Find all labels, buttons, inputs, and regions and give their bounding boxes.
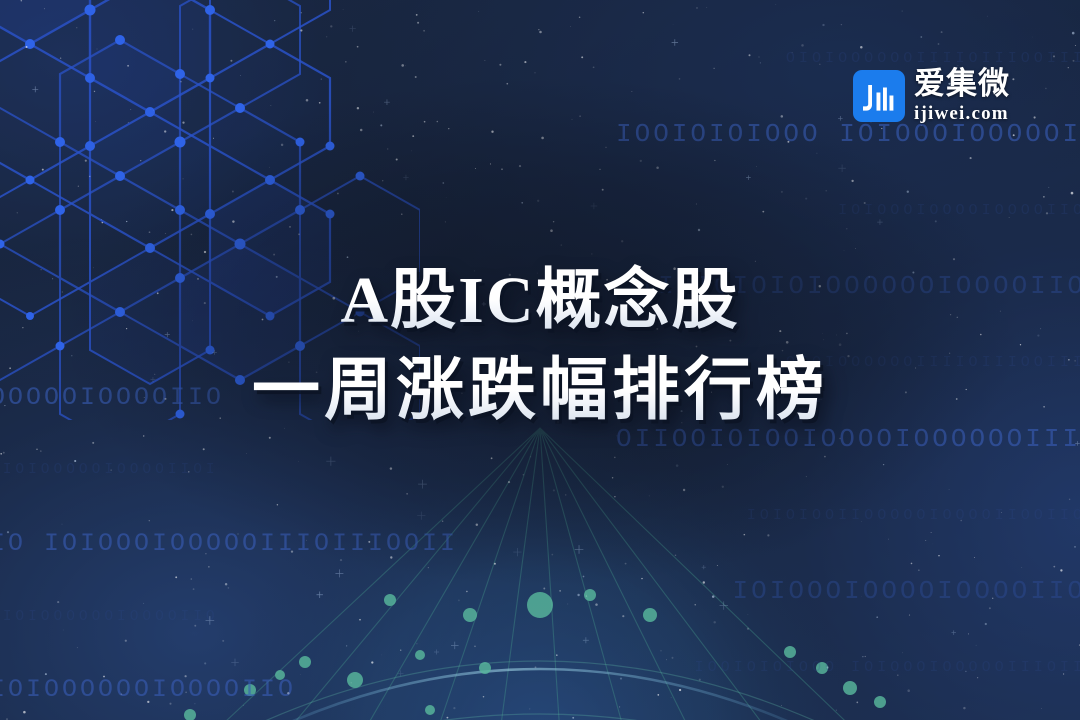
title-line-1: A股IC概念股: [0, 257, 1080, 345]
binary-row: IOIOOOOOOIOOOOIIO: [0, 677, 420, 703]
binary-row: OIOIOOOOOIOOOOIIOI: [0, 463, 420, 478]
binary-row: OIOIOOOOOOIOOOOIIO: [0, 610, 420, 625]
poster-canvas: OIOIOOOOOOIIIIOIIIOOIII IOOIOIOIOOO IOIO…: [0, 0, 1080, 720]
logo-text-group: 爱集微 ijiwei.com: [914, 68, 1010, 123]
ijiwei-logo: 爱集微 ijiwei.com: [853, 68, 1010, 123]
binary-row: IOOIOIOIOOO IOIOOOIOOOOOIIIOII: [616, 121, 1080, 148]
binary-row: IO IOIOOOIOOOOOIIIOIIIOOII: [0, 531, 420, 557]
binary-row: OIOIOOOOOOIIIIOIIIOOIII: [616, 51, 1080, 67]
logo-brand-cn: 爱集微: [914, 68, 1010, 99]
title-line-2: 一周涨跌幅排行榜: [0, 345, 1080, 436]
poster-title: A股IC概念股 一周涨跌幅排行榜: [0, 257, 1080, 437]
binary-row: IOIOOOIOOOOIOOOOIIO: [616, 578, 1080, 605]
binary-row: IOIOIOOIIOOOOOIOOOOIIOOIIO: [616, 508, 1080, 524]
binary-row: IOOIOIOIOOO IOIOOOIOOOOOIIIOII: [616, 660, 1080, 676]
ijiwei-bar-chart-icon: [853, 70, 905, 122]
logo-brand-domain: ijiwei.com: [914, 104, 1009, 123]
binary-row: IOIOOOIOOOOIOOOOIIO: [616, 203, 1080, 219]
